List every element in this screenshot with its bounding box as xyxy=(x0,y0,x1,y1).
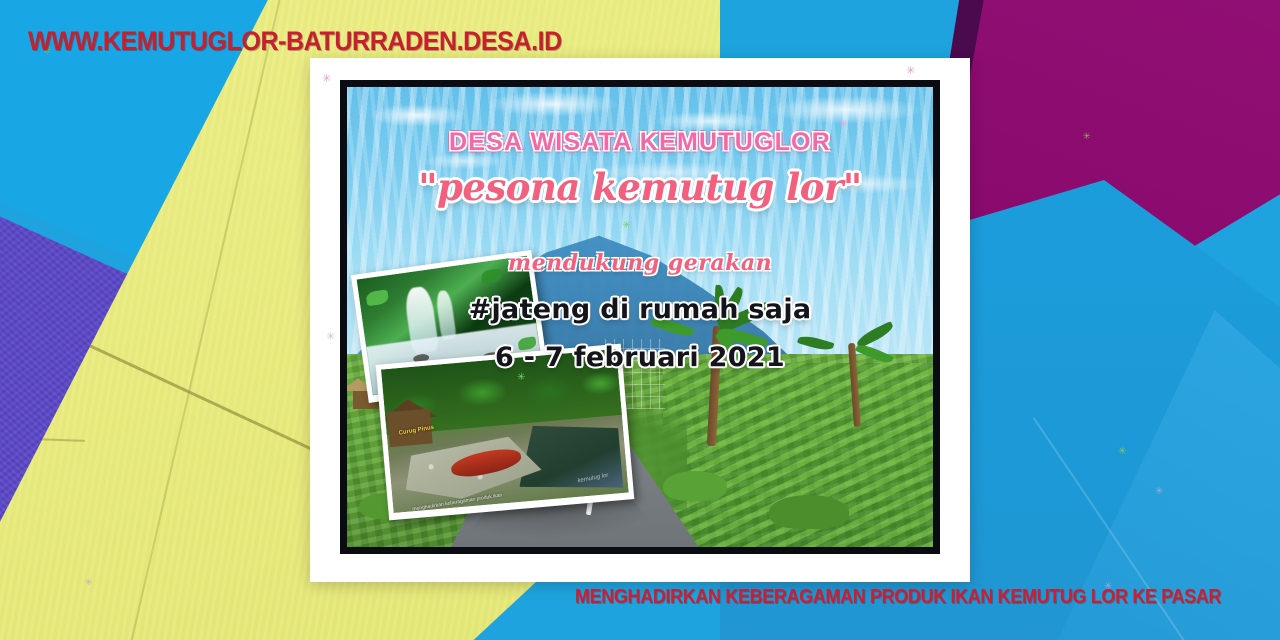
screenshot-canvas: ✳ ✳ ✳ ✳ ✳ ✳ ✳ ✳ ✳ ✳ xyxy=(0,0,1280,640)
site-url-watermark: WWW.KEMUTUGLOR-BATURRADEN.DESA.ID xyxy=(28,26,562,57)
confetti-star-icon: ✳ xyxy=(326,330,335,343)
poster-bush xyxy=(663,471,727,501)
poster-hashtag: #jateng di rumah saja xyxy=(347,294,933,325)
confetti-star-icon: ✳ xyxy=(1118,447,1126,457)
poster-image: Curug Pinus menghadirkan keberagaman pro… xyxy=(347,87,933,547)
confetti-star-icon: ✳ xyxy=(1083,132,1091,141)
bottom-caption-watermark: MENGHADIRKAN KEBERAGAMAN PRODUK IKAN KEM… xyxy=(575,586,1221,609)
confetti-star-icon: ✳ xyxy=(906,64,915,77)
confetti-star-icon: ✳ xyxy=(622,220,630,231)
poster-subtitle: "pesona kemutug lor" xyxy=(347,165,933,209)
poster-supporting-line: mendukung gerakan xyxy=(347,250,933,276)
confetti-star-icon: ✳ xyxy=(517,372,525,383)
confetti-star-icon: ✳ xyxy=(85,578,93,587)
confetti-star-icon: ✳ xyxy=(322,72,331,85)
confetti-star-icon: ✳ xyxy=(1155,487,1163,497)
poster-date: 6 - 7 februari 2021 xyxy=(347,342,933,373)
poster-frame: Curug Pinus menghadirkan keberagaman pro… xyxy=(340,80,940,554)
poster-bush xyxy=(769,495,849,529)
confetti-star-icon: ✳ xyxy=(839,119,847,130)
river-village-photo-image: Curug Pinus menghadirkan keberagaman pro… xyxy=(381,349,629,513)
poster-title: DESA WISATA KEMUTUGLOR xyxy=(347,128,933,157)
